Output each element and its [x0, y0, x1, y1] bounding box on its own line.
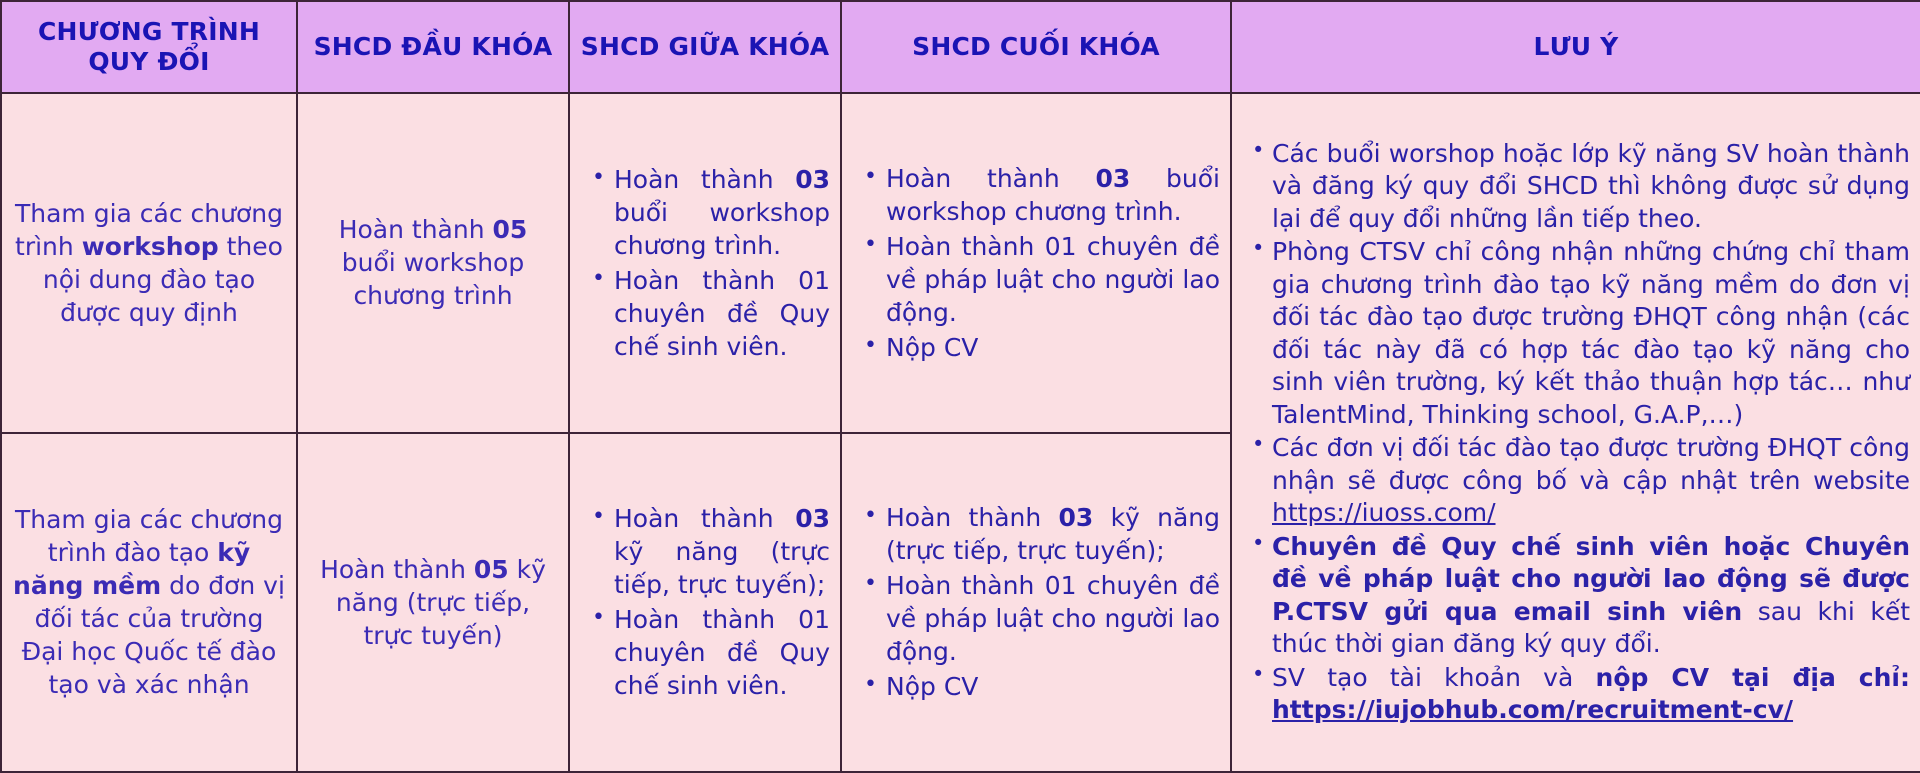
- giua-khoa-list-row2: Hoàn thành 03 kỹ năng (trực tiếp, trực t…: [580, 502, 830, 702]
- dau-khoa-suffix-row1: buổi workshop chương trình: [342, 248, 524, 310]
- giua-khoa-list-row1: Hoàn thành 03 buổi workshop chương trình…: [580, 163, 830, 363]
- header-chuong-trinh-quy-doi: CHƯƠNG TRÌNH QUY ĐỔI: [1, 1, 297, 93]
- item-prefix: Hoàn thành: [614, 504, 795, 533]
- item-prefix: Hoàn thành 01 chuyên đề Quy chế sinh viê…: [614, 605, 830, 700]
- item-prefix: Hoàn thành: [886, 503, 1058, 532]
- item-bold: 03: [1095, 164, 1130, 193]
- note-text-1: Các buổi worshop hoặc lớp kỹ năng SV hoà…: [1272, 139, 1910, 233]
- list-item: Hoàn thành 03 kỹ năng (trực tiếp, trực t…: [614, 502, 830, 601]
- list-item: SV tạo tài khoản và nộp CV tại địa chỉ: …: [1272, 662, 1910, 727]
- iuoss-link[interactable]: https://iuoss.com/: [1272, 498, 1496, 527]
- item-prefix: Hoàn thành 01 chuyên đề về pháp luật cho…: [886, 232, 1220, 327]
- cuoi-khoa-list-row1: Hoàn thành 03 buổi workshop chương trình…: [852, 162, 1220, 364]
- dau-khoa-bold-row2: 05: [474, 555, 509, 584]
- item-prefix: Hoàn thành 01 chuyên đề Quy chế sinh viê…: [614, 266, 830, 361]
- item-suffix: kỹ năng (trực tiếp, trực tuyến);: [614, 537, 830, 599]
- notes-list: Các buổi worshop hoặc lớp kỹ năng SV hoà…: [1242, 138, 1910, 727]
- cell-program-row2: Tham gia các chương trình đào tạo kỹ năn…: [1, 433, 297, 773]
- table-sheet: CHƯƠNG TRÌNH QUY ĐỔI SHCD ĐẦU KHÓA SHCD …: [0, 0, 1920, 773]
- table-header-row: CHƯƠNG TRÌNH QUY ĐỔI SHCD ĐẦU KHÓA SHCD …: [1, 1, 1920, 93]
- cell-dau-khoa-row1: Hoàn thành 05 buổi workshop chương trình: [297, 93, 569, 433]
- cuoi-khoa-list-row2: Hoàn thành 03 kỹ năng (trực tiếp, trực t…: [852, 501, 1220, 703]
- item-prefix: Hoàn thành: [886, 164, 1095, 193]
- note-text-3-before: Các đơn vị đối tác đào tạo được trường Đ…: [1272, 433, 1910, 495]
- item-prefix: Hoàn thành 01 chuyên đề về pháp luật cho…: [886, 571, 1220, 666]
- list-item: Hoàn thành 03 kỹ năng (trực tiếp, trực t…: [886, 501, 1220, 567]
- item-prefix: Nộp CV: [886, 333, 978, 362]
- list-item: Hoàn thành 01 chuyên đề Quy chế sinh viê…: [614, 264, 830, 363]
- header-label-3: SHCD GIỮA KHÓA: [581, 32, 830, 61]
- list-item: Hoàn thành 01 chuyên đề Quy chế sinh viê…: [614, 603, 830, 702]
- list-item: Phòng CTSV chỉ công nhận những chứng chỉ…: [1272, 236, 1910, 431]
- list-item: Hoàn thành 03 buổi workshop chương trình…: [614, 163, 830, 262]
- dau-khoa-prefix-row2: Hoàn thành: [320, 555, 474, 584]
- item-suffix: buổi workshop chương trình.: [614, 198, 830, 260]
- item-bold: 03: [795, 165, 830, 194]
- item-prefix: Nộp CV: [886, 672, 978, 701]
- note-text-5-before: SV tạo tài khoản và: [1272, 663, 1596, 692]
- item-bold: 03: [795, 504, 830, 533]
- list-item: Hoàn thành 03 buổi workshop chương trình…: [886, 162, 1220, 228]
- header-luu-y: LƯU Ý: [1231, 1, 1920, 93]
- table-header: CHƯƠNG TRÌNH QUY ĐỔI SHCD ĐẦU KHÓA SHCD …: [1, 1, 1920, 93]
- header-shcd-giua-khoa: SHCD GIỮA KHÓA: [569, 1, 841, 93]
- dau-khoa-prefix-row1: Hoàn thành: [339, 215, 493, 244]
- note-text-5-bold: nộp CV tại địa chỉ:: [1596, 663, 1910, 692]
- cell-cuoi-khoa-row1: Hoàn thành 03 buổi workshop chương trình…: [841, 93, 1231, 433]
- header-label-5: LƯU Ý: [1534, 32, 1619, 61]
- header-shcd-cuoi-khoa: SHCD CUỐI KHÓA: [841, 1, 1231, 93]
- header-label-4: SHCD CUỐI KHÓA: [912, 32, 1160, 61]
- list-item: Các đơn vị đối tác đào tạo được trường Đ…: [1272, 432, 1910, 530]
- item-bold: 03: [1058, 503, 1093, 532]
- list-item: Hoàn thành 01 chuyên đề về pháp luật cho…: [886, 569, 1220, 668]
- table-body: Tham gia các chương trình workshop theo …: [1, 93, 1920, 772]
- note-text-2: Phòng CTSV chỉ công nhận những chứng chỉ…: [1272, 237, 1910, 429]
- cell-cuoi-khoa-row2: Hoàn thành 03 kỹ năng (trực tiếp, trực t…: [841, 433, 1231, 773]
- cell-dau-khoa-row2: Hoàn thành 05 kỹ năng (trực tiếp, trực t…: [297, 433, 569, 773]
- header-label-2: SHCD ĐẦU KHÓA: [314, 32, 553, 61]
- list-item: Chuyên đề Quy chế sinh viên hoặc Chuyên …: [1272, 531, 1910, 661]
- dau-khoa-bold-row1: 05: [493, 215, 528, 244]
- program-text-bold-row1: workshop: [82, 232, 219, 261]
- list-item: Hoàn thành 01 chuyên đề về pháp luật cho…: [886, 230, 1220, 329]
- item-prefix: Hoàn thành: [614, 165, 795, 194]
- table-row: Tham gia các chương trình workshop theo …: [1, 93, 1920, 433]
- header-shcd-dau-khoa: SHCD ĐẦU KHÓA: [297, 1, 569, 93]
- conversion-program-table: CHƯƠNG TRÌNH QUY ĐỔI SHCD ĐẦU KHÓA SHCD …: [0, 0, 1920, 773]
- cell-program-row1: Tham gia các chương trình workshop theo …: [1, 93, 297, 433]
- cell-notes: Các buổi worshop hoặc lớp kỹ năng SV hoà…: [1231, 93, 1920, 772]
- list-item: Nộp CV: [886, 331, 1220, 364]
- cell-giua-khoa-row2: Hoàn thành 03 kỹ năng (trực tiếp, trực t…: [569, 433, 841, 773]
- list-item: Các buổi worshop hoặc lớp kỹ năng SV hoà…: [1272, 138, 1910, 236]
- cell-giua-khoa-row1: Hoàn thành 03 buổi workshop chương trình…: [569, 93, 841, 433]
- list-item: Nộp CV: [886, 670, 1220, 703]
- header-label-1: CHƯƠNG TRÌNH QUY ĐỔI: [38, 17, 260, 77]
- iujobhub-link[interactable]: https://iujobhub.com/recruitment-cv/: [1272, 695, 1793, 724]
